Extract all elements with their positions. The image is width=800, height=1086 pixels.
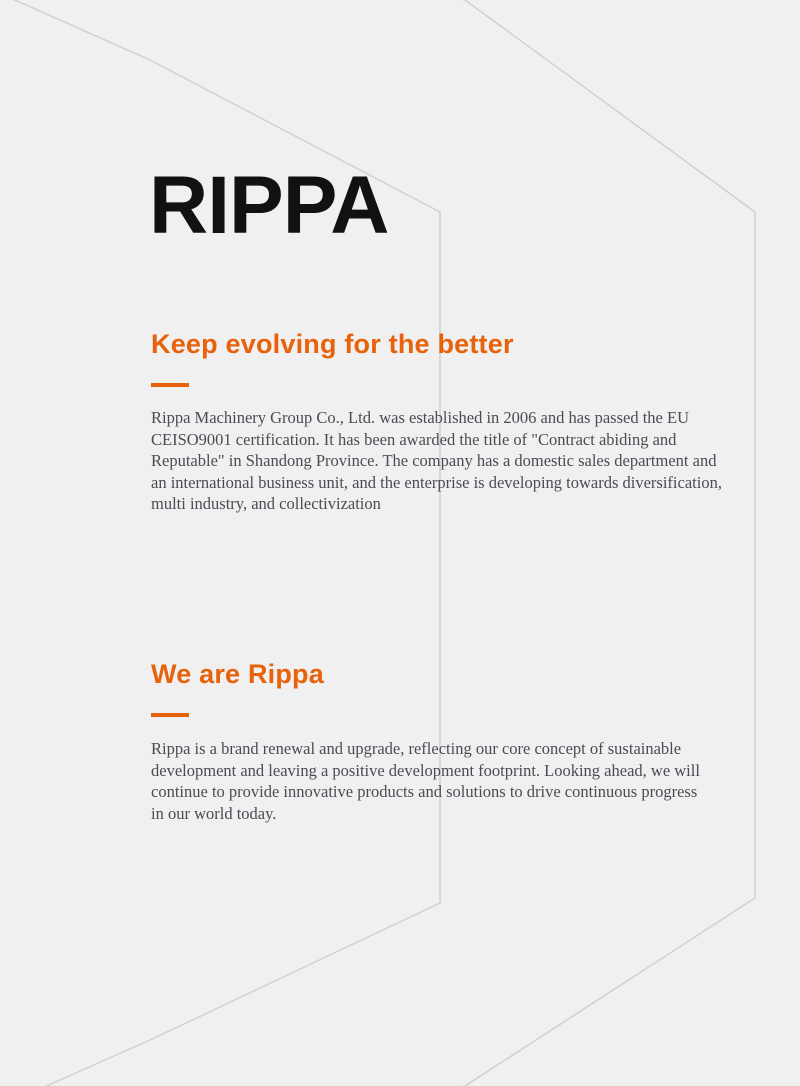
section-body-keep-evolving: Rippa Machinery Group Co., Ltd. was esta…: [151, 387, 734, 515]
section-keep-evolving: Keep evolving for the better Rippa Machi…: [151, 327, 751, 515]
brand-wordmark: RIPPA: [149, 163, 389, 249]
section-body-we-are-rippa: Rippa is a brand renewal and upgrade, re…: [151, 717, 711, 824]
about-page: RIPPA Keep evolving for the better Rippa…: [0, 0, 800, 1086]
section-we-are-rippa: We are Rippa Rippa is a brand renewal an…: [151, 657, 751, 824]
section-heading-keep-evolving: Keep evolving for the better: [151, 327, 751, 361]
page-content: RIPPA Keep evolving for the better Rippa…: [0, 0, 800, 1086]
section-heading-we-are-rippa: We are Rippa: [151, 657, 751, 691]
